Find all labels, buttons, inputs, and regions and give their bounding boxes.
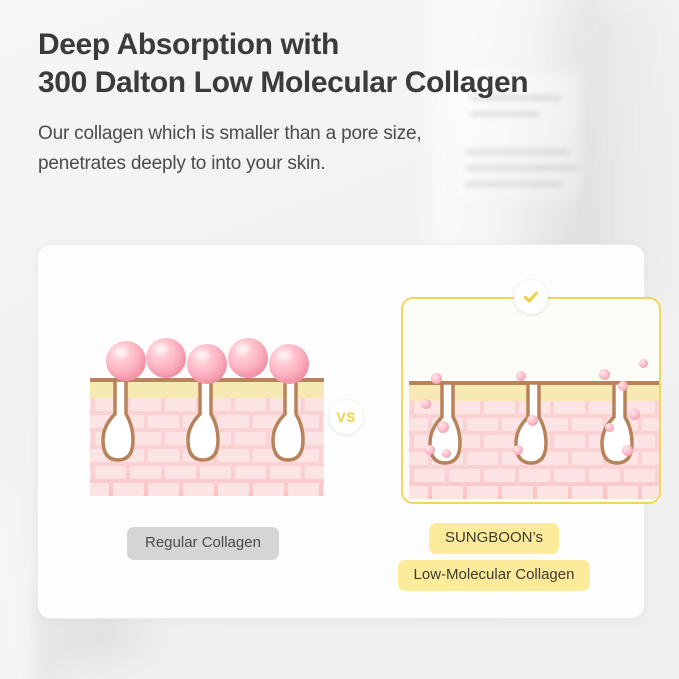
collagen-molecule bbox=[639, 359, 648, 368]
collagen-molecule bbox=[629, 409, 640, 420]
page-subtitle-line-1: Our collagen which is smaller than a por… bbox=[38, 119, 656, 149]
pore-icon bbox=[273, 380, 303, 460]
pore-group-regular bbox=[90, 378, 324, 496]
collagen-sphere bbox=[228, 338, 268, 378]
collagen-molecule bbox=[431, 373, 442, 384]
collagen-sphere bbox=[146, 338, 186, 378]
label-low-molecular-collagen: SUNGBOON’s Low-Molecular Collagen bbox=[363, 523, 625, 591]
pore-group-low-molecular bbox=[409, 381, 659, 499]
background-label-line bbox=[466, 182, 562, 186]
skin-diagram-low-molecular bbox=[409, 381, 659, 499]
collagen-molecule bbox=[421, 399, 431, 409]
label-regular-collagen: Regular Collagen bbox=[127, 527, 279, 560]
collagen-molecule bbox=[618, 381, 628, 391]
collagen-sphere bbox=[106, 341, 146, 381]
vs-label: VS bbox=[336, 409, 355, 425]
page-title-line-1: Deep Absorption with bbox=[38, 26, 656, 64]
collagen-molecule bbox=[437, 421, 449, 433]
collagen-molecule bbox=[599, 369, 610, 380]
page-subtitle: Our collagen which is smaller than a por… bbox=[38, 119, 656, 179]
vs-badge: VS bbox=[329, 400, 363, 434]
panel-regular-collagen: Regular Collagen bbox=[60, 245, 320, 618]
collagen-molecule bbox=[516, 371, 526, 381]
collagen-molecule bbox=[605, 423, 614, 432]
page-title-line-2: 300 Dalton Low Molecular Collagen bbox=[38, 64, 656, 102]
collagen-sphere bbox=[269, 344, 309, 384]
label-product: Low-Molecular Collagen bbox=[398, 560, 591, 591]
collagen-molecule bbox=[425, 445, 435, 455]
skin-diagram-regular bbox=[90, 378, 324, 496]
page-title: Deep Absorption with 300 Dalton Low Mole… bbox=[38, 26, 656, 102]
pore-icon bbox=[188, 380, 218, 460]
check-icon bbox=[521, 287, 541, 307]
collagen-molecule bbox=[513, 445, 523, 455]
collagen-molecule bbox=[622, 445, 633, 456]
collagen-molecule bbox=[527, 415, 538, 426]
pore-icon bbox=[103, 380, 133, 460]
collagen-molecule bbox=[442, 449, 451, 458]
check-badge bbox=[514, 280, 548, 314]
page-subtitle-line-2: penetrates deeply to into your skin. bbox=[38, 149, 656, 179]
header: Deep Absorption with 300 Dalton Low Mole… bbox=[38, 26, 656, 179]
comparison-card: Regular Collagen VS bbox=[37, 244, 645, 619]
label-brand: SUNGBOON’s bbox=[429, 523, 559, 554]
page-root: Deep Absorption with 300 Dalton Low Mole… bbox=[0, 0, 679, 679]
highlight-frame bbox=[401, 297, 661, 504]
panel-low-molecular-collagen: SUNGBOON’s Low-Molecular Collagen bbox=[363, 245, 625, 618]
collagen-sphere bbox=[187, 344, 227, 384]
